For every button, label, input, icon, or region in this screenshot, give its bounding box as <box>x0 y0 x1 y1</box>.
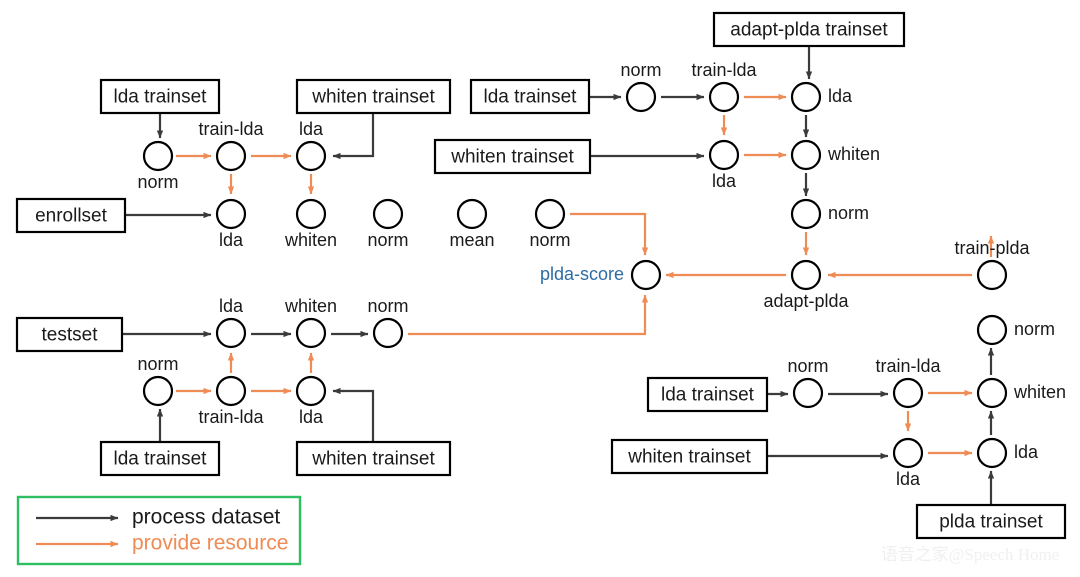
operation-node-label: train-lda <box>198 407 264 427</box>
operation-node-circle <box>792 141 820 169</box>
operation-node-label: whiten <box>284 296 337 316</box>
operation-node[interactable]: norm <box>367 200 408 250</box>
operation-node-label: norm <box>137 354 178 374</box>
operation-node-circle <box>458 200 486 228</box>
operation-node-circle <box>978 379 1006 407</box>
dataset-box[interactable]: lda trainset <box>648 378 767 411</box>
operation-node-label: lda <box>1014 442 1039 462</box>
dataset-box[interactable]: whiten trainset <box>297 442 450 475</box>
dataset-box-label: whiten trainset <box>311 87 435 108</box>
operation-node-circle <box>978 439 1006 467</box>
operation-node-circle <box>894 379 922 407</box>
resource-edge <box>408 295 645 334</box>
operation-node[interactable]: train-lda <box>691 60 757 111</box>
operation-node-label: lda <box>299 407 324 427</box>
operation-node-label: norm <box>787 356 828 376</box>
dataset-box-label: whiten trainset <box>627 447 751 468</box>
operation-node-label: whiten <box>284 230 337 250</box>
operation-node[interactable]: lda <box>297 377 325 427</box>
operation-node-circle <box>632 261 660 289</box>
operation-node-circle <box>374 319 402 347</box>
operation-node-circle <box>792 83 820 111</box>
operation-node-label: train-lda <box>875 356 941 376</box>
dataset-box-label: adapt-plda trainset <box>730 20 888 41</box>
operation-node[interactable]: norm <box>620 60 661 111</box>
operation-node-label: whiten <box>827 144 880 164</box>
dataset-box-label: whiten trainset <box>311 449 435 470</box>
dataset-box[interactable]: plda trainset <box>917 505 1065 538</box>
operation-node-circle <box>217 377 245 405</box>
watermark: 语音之家@Speech Home <box>881 545 1060 564</box>
operation-node-label: train-lda <box>691 60 757 80</box>
operation-node[interactable]: norm <box>137 354 178 405</box>
dataset-box-label: whiten trainset <box>450 147 574 168</box>
legend-process-label: process dataset <box>132 506 280 529</box>
operation-node[interactable]: mean <box>449 200 494 250</box>
operation-node-label: norm <box>1014 319 1055 339</box>
dataset-box-label: lda trainset <box>114 87 208 108</box>
operation-node-label: adapt-plda <box>763 291 849 311</box>
operation-node[interactable]: whiten <box>792 141 880 169</box>
operation-node[interactable]: plda-score <box>540 261 660 289</box>
operation-node-circle <box>627 83 655 111</box>
operation-node[interactable]: norm <box>529 200 570 250</box>
pipeline-diagram: lda trainsetwhiten trainsetlda trainseta… <box>0 0 1080 577</box>
process-edge <box>333 391 373 442</box>
dataset-box[interactable]: enrollset <box>17 199 125 232</box>
legend: process dataset provide resource <box>18 497 300 564</box>
operation-node[interactable]: train-lda <box>198 377 264 427</box>
dataset-box[interactable]: whiten trainset <box>435 140 590 173</box>
operation-node[interactable]: lda <box>978 439 1039 467</box>
operation-node[interactable]: norm <box>137 142 178 192</box>
operation-node-label: norm <box>828 203 869 223</box>
operation-node[interactable]: norm <box>978 316 1055 344</box>
operation-node-label: norm <box>620 60 661 80</box>
dataset-box-label: plda trainset <box>939 512 1043 533</box>
operation-node-label: mean <box>449 230 494 250</box>
dataset-box[interactable]: lda trainset <box>101 442 219 475</box>
operation-node[interactable]: train-plda <box>954 238 1030 289</box>
diagram-canvas: lda trainsetwhiten trainsetlda trainseta… <box>0 0 1080 577</box>
dataset-box-label: testset <box>42 325 99 346</box>
operation-node-circle <box>978 316 1006 344</box>
dataset-box-label: enrollset <box>35 206 108 227</box>
operation-node-circle <box>792 261 820 289</box>
operation-node-circle <box>710 141 738 169</box>
operation-node-circle <box>297 377 325 405</box>
operation-node[interactable]: norm <box>792 200 869 228</box>
operation-node-circle <box>217 200 245 228</box>
operation-node-label: norm <box>529 230 570 250</box>
operation-node-circle <box>144 142 172 170</box>
operation-node[interactable]: whiten <box>978 379 1066 407</box>
operation-node[interactable]: norm <box>787 356 828 407</box>
operation-node-circle <box>710 83 738 111</box>
operation-node-circle <box>217 319 245 347</box>
operation-node-circle <box>978 261 1006 289</box>
dataset-box[interactable]: whiten trainset <box>612 440 767 473</box>
dataset-box[interactable]: lda trainset <box>471 80 589 113</box>
legend-resource-label: provide resource <box>132 532 288 555</box>
operation-node-label: train-plda <box>954 238 1030 258</box>
operation-node-circle <box>297 142 325 170</box>
operation-node[interactable]: adapt-plda <box>763 261 849 311</box>
operation-node-label: lda <box>219 230 244 250</box>
operation-node-label: norm <box>367 296 408 316</box>
operation-node-label: lda <box>828 86 853 106</box>
operation-node-label: plda-score <box>540 264 624 284</box>
operation-node-label: lda <box>712 171 737 191</box>
operation-node-label: train-lda <box>198 119 264 139</box>
operation-node[interactable]: norm <box>367 296 408 347</box>
operation-node-label: norm <box>367 230 408 250</box>
operation-node-circle <box>894 439 922 467</box>
operation-node-circle <box>536 200 564 228</box>
operation-node[interactable]: whiten <box>284 200 337 250</box>
operation-node[interactable]: whiten <box>284 296 337 347</box>
dataset-box[interactable]: testset <box>17 318 122 351</box>
operation-node[interactable]: lda <box>217 296 245 347</box>
operation-node[interactable]: train-lda <box>198 119 264 170</box>
dataset-box-label: lda trainset <box>114 449 208 470</box>
operation-node-circle <box>297 200 325 228</box>
dataset-box-label: lda trainset <box>484 87 578 108</box>
operation-node-label: norm <box>137 172 178 192</box>
operation-node[interactable]: lda <box>710 141 738 191</box>
operation-node[interactable]: lda <box>792 83 853 111</box>
resource-edge <box>570 214 645 255</box>
operation-node-label: whiten <box>1013 382 1066 402</box>
operation-node[interactable]: lda <box>217 200 245 250</box>
operation-node[interactable]: lda <box>894 439 922 489</box>
dataset-box[interactable]: whiten trainset <box>297 80 450 113</box>
operation-node-circle <box>794 379 822 407</box>
operation-node-circle <box>792 200 820 228</box>
operation-node[interactable]: lda <box>297 119 325 170</box>
operation-node-circle <box>297 319 325 347</box>
operation-node-label: lda <box>299 119 324 139</box>
operation-node-label: lda <box>219 296 244 316</box>
dataset-box[interactable]: lda trainset <box>101 80 219 113</box>
operation-node-circle <box>374 200 402 228</box>
operation-node-label: lda <box>896 469 921 489</box>
operation-node[interactable]: train-lda <box>875 356 941 407</box>
dataset-box[interactable]: adapt-plda trainset <box>714 13 904 46</box>
dataset-box-label: lda trainset <box>661 385 755 406</box>
operation-node-circle <box>144 377 172 405</box>
operation-node-circle <box>217 142 245 170</box>
